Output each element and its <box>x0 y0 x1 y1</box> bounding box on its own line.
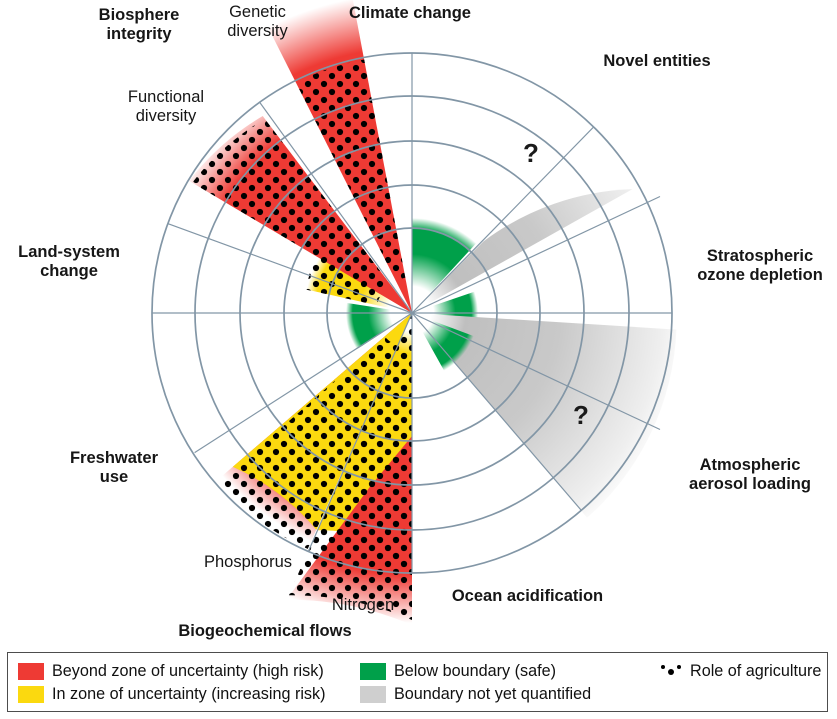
legend-label-agriculture: Role of agriculture <box>690 662 821 681</box>
agriculture-dots-icon <box>660 663 686 680</box>
novel-entities-question-mark: ? <box>523 138 539 168</box>
legend: Beyond zone of uncertainty (high risk) I… <box>7 652 828 712</box>
legend-label-beyond: Beyond zone of uncertainty (high risk) <box>52 662 324 681</box>
legend-item-agriculture: Role of agriculture <box>660 660 821 683</box>
legend-swatch-in-zone <box>18 686 44 703</box>
legend-item-beyond: Beyond zone of uncertainty (high risk) <box>18 660 326 683</box>
legend-swatch-beyond <box>18 663 44 680</box>
label-atmospheric-aerosol-loading: Atmospheric aerosol loading <box>665 456 835 494</box>
label-climate-change: Climate change <box>320 4 500 23</box>
legend-item-below: Below boundary (safe) <box>360 660 591 683</box>
legend-label-not-quantified: Boundary not yet quantified <box>394 685 591 704</box>
legend-swatch-below <box>360 663 386 680</box>
label-novel-entities: Novel entities <box>562 52 752 71</box>
legend-swatch-not-quantified <box>360 686 386 703</box>
label-biosphere-integrity: Biosphere integrity <box>74 6 204 44</box>
label-freshwater-use: Freshwater use <box>45 449 183 487</box>
label-functional-diversity: Functional diversity <box>106 88 226 126</box>
label-stratospheric-ozone-depletion: Stratospheric ozone depletion <box>681 247 837 285</box>
label-biogeochemical-flows: Biogeochemical flows <box>140 622 390 641</box>
label-phosphorus: Phosphorus <box>183 553 313 572</box>
label-ocean-acidification: Ocean acidification <box>430 587 625 606</box>
label-nitrogen: Nitrogen <box>308 596 418 615</box>
legend-label-below: Below boundary (safe) <box>394 662 556 681</box>
aerosol-loading-question-mark: ? <box>573 400 589 430</box>
legend-item-not-quantified: Boundary not yet quantified <box>360 683 591 706</box>
legend-label-in-zone: In zone of uncertainty (increasing risk) <box>52 685 326 704</box>
label-land-system-change: Land-system change <box>0 243 138 281</box>
planetary-boundaries-figure: ? ? Biosphere integrity Genetic diversit… <box>0 0 837 719</box>
legend-item-in-zone: In zone of uncertainty (increasing risk) <box>18 683 326 706</box>
label-genetic-diversity: Genetic diversity <box>205 3 310 41</box>
